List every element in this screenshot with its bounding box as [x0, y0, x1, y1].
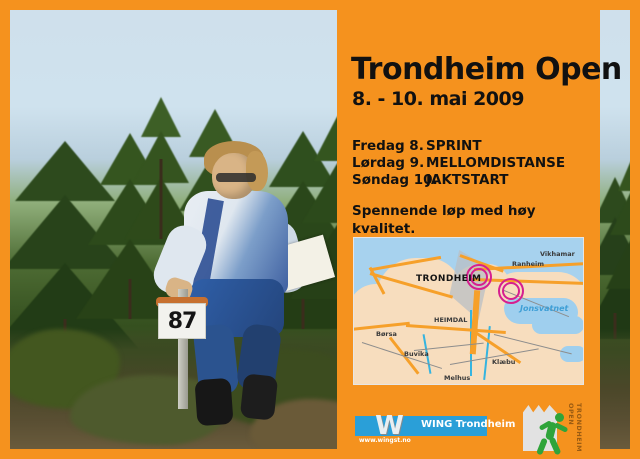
map-label-borsa: Børsa — [376, 330, 397, 338]
wing-logo-text: WING Trondheim — [421, 419, 515, 430]
schedule-row: Fredag 8. SPRINT — [352, 138, 565, 155]
tree — [606, 159, 630, 289]
schedule-list: Fredag 8. SPRINT Lørdag 9. MELLOMDISTANS… — [352, 138, 565, 189]
wing-logo[interactable]: W WING Trondheim www.wingst.no — [355, 410, 487, 446]
wing-w-mark: W — [361, 412, 415, 440]
forest-floor — [600, 329, 630, 449]
runner-icon-head — [555, 413, 564, 422]
wing-logo-url[interactable]: www.wingst.no — [359, 437, 411, 444]
schedule-event: SPRINT — [426, 138, 482, 155]
schedule-row: Lørdag 9. MELLOMDISTANSE — [352, 155, 565, 172]
runner-sock-left — [194, 378, 233, 426]
map-marker-ring — [502, 282, 520, 300]
logo-vertical-text: TRONDHEIM OPEN — [567, 403, 583, 459]
schedule-event: MELLOMDISTANSE — [426, 155, 565, 172]
schedule-day: Søndag 10. — [352, 172, 426, 189]
event-dates: 8. - 10. mai 2009 — [352, 88, 524, 110]
schedule-event: JAKTSTART — [426, 172, 508, 189]
schedule-day: Lørdag 9. — [352, 155, 426, 172]
map-label-klaebu: Klæbu — [492, 358, 515, 366]
runner-icon-leg-right — [549, 437, 562, 456]
map-label-melhus: Melhus — [444, 374, 470, 382]
map-label-jonsvatnet: Jonsvatnet — [520, 304, 568, 313]
location-map: TRONDHEIM HEIMDAL Ranheim Vikhamar Børsa… — [353, 237, 584, 385]
map-label-buvika: Buvika — [404, 350, 429, 358]
map-label-ranheim: Ranheim — [512, 260, 544, 268]
map-lake — [560, 346, 584, 362]
control-number: 87 — [168, 309, 197, 334]
trondheim-open-logo: TRONDHEIM OPEN — [523, 403, 585, 459]
poster-root: 87 Trondheim Open 8. - 10. mai 2009 Fred… — [0, 0, 640, 459]
schedule-row: Søndag 10. JAKTSTART — [352, 172, 565, 189]
map-label-trondheim: TRONDHEIM — [416, 274, 481, 284]
tagline-line-1: Spennende løp med høy kvalitet. — [352, 202, 590, 238]
runner-hair-side — [246, 151, 268, 191]
runner-icon-leg-left — [536, 437, 548, 455]
control-number-plate: 87 — [158, 303, 206, 339]
map-lake — [532, 316, 584, 334]
info-panel: Trondheim Open 8. - 10. mai 2009 Fredag … — [345, 10, 590, 449]
page-title: Trondheim Open — [351, 52, 622, 87]
map-label-heimdal: HEIMDAL — [434, 316, 467, 324]
schedule-day: Fredag 8. — [352, 138, 426, 155]
runner-sock-right — [240, 373, 278, 420]
hero-photo: 87 — [10, 10, 337, 449]
map-label-vikhamar: Vikhamar — [540, 250, 575, 258]
runner-glasses — [216, 173, 256, 182]
